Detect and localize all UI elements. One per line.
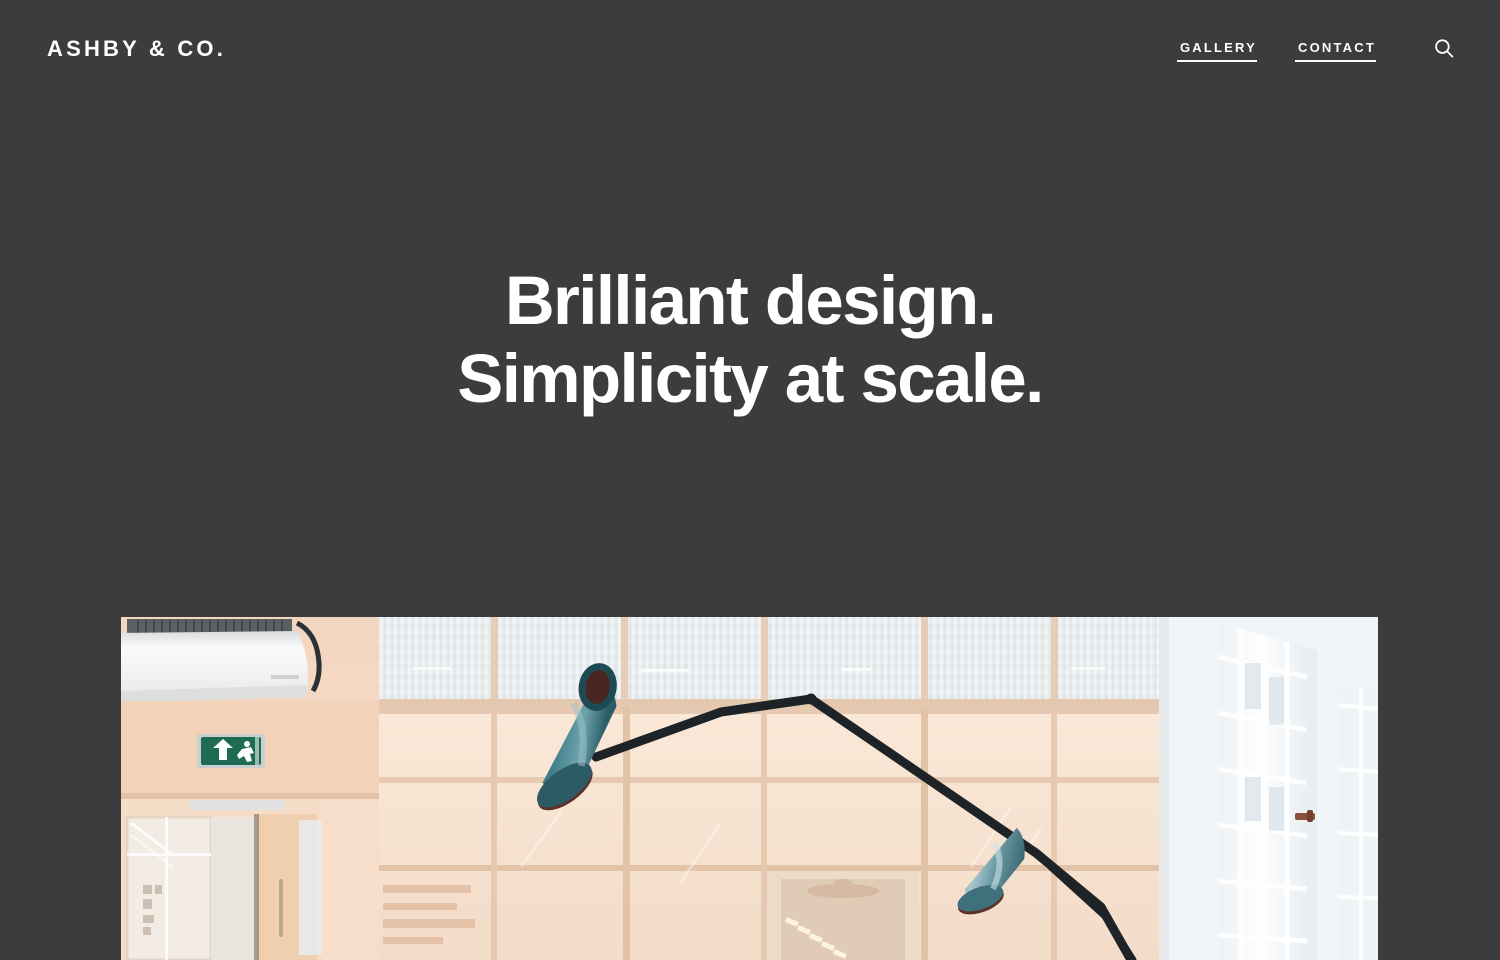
landing-page: ASHBY & CO. GALLERY CONTACT Brilliant de… [0,0,1500,960]
primary-navigation: GALLERY CONTACT [1180,41,1456,62]
site-header: ASHBY & CO. GALLERY CONTACT [0,0,1500,105]
page-title: Brilliant design. Simplicity at scale. [0,262,1500,418]
exit-sign [197,734,265,768]
brand-logo[interactable]: ASHBY & CO. [47,38,226,60]
hero-section: Brilliant design. Simplicity at scale. [0,262,1500,418]
gridded-window [1219,623,1317,960]
nav-link-gallery[interactable]: GALLERY [1180,41,1257,62]
ac-unit [121,619,319,703]
search-icon[interactable] [1432,37,1456,61]
hero-line-2: Simplicity at scale. [0,340,1500,418]
hero-photograph: Interior of a light-filled atrium with p… [121,617,1378,960]
hero-line-1: Brilliant design. [0,262,1500,340]
nav-link-contact[interactable]: CONTACT [1298,41,1376,62]
